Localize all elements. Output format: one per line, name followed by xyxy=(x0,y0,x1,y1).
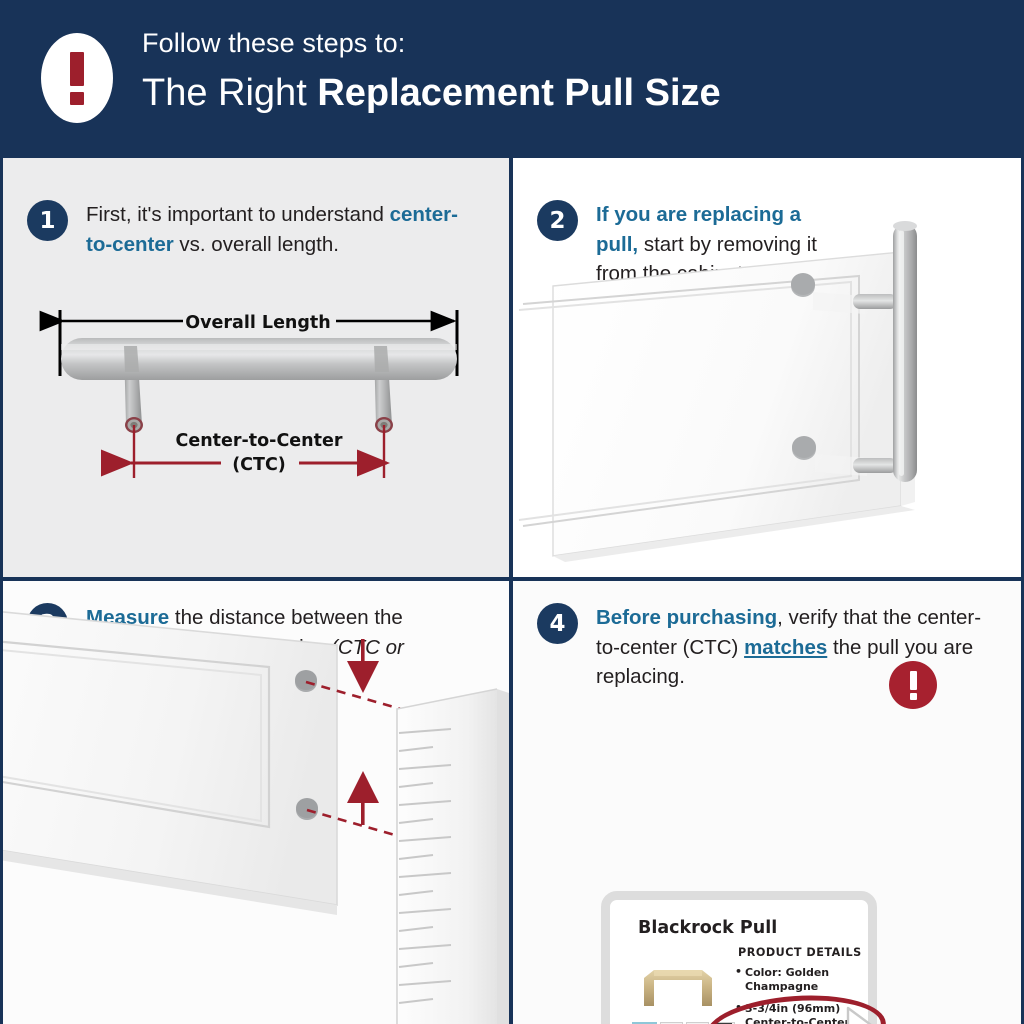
mouse-pointer-icon xyxy=(842,1004,894,1024)
step-panel-2: 2 If you are replacing a pull, start by … xyxy=(513,158,1021,577)
infographic-page: Follow these steps to: The Right Replace… xyxy=(0,0,1024,1024)
product-page-monitor: Blackrock Pull xyxy=(601,891,877,1024)
product-details-heading: PRODUCT DETAILS xyxy=(738,946,862,959)
horizontal-divider xyxy=(0,577,1024,581)
arrow-down xyxy=(347,639,379,693)
step-number-4: 4 xyxy=(537,603,578,644)
step-4-text-a: Before purchasing xyxy=(596,606,777,629)
cabinet-door-with-pull-illustration xyxy=(513,158,1021,577)
exclamation-icon xyxy=(41,33,113,123)
svg-text:Overall Length: Overall Length xyxy=(185,313,331,333)
product-title: Blackrock Pull xyxy=(638,918,777,938)
svg-text:Center-to-Center: Center-to-Center xyxy=(176,431,343,451)
product-image-blackrock-pull xyxy=(632,956,724,1016)
title-bold: Replacement Pull Size xyxy=(317,72,720,114)
title-light: The Right xyxy=(142,72,317,114)
measuring-screw-holes-illustration xyxy=(3,581,509,1024)
step-panel-4: 4 Before purchasing, verify that the cen… xyxy=(513,581,1021,1024)
step-panel-1: 1 First, it's important to understand ce… xyxy=(3,158,509,577)
step-4-matches-link[interactable]: matches xyxy=(744,636,827,659)
monitor-screen: Blackrock Pull xyxy=(601,891,877,1024)
step-panel-3: 3 Measure the distance between the cente… xyxy=(3,581,509,1024)
arrow-up xyxy=(347,771,379,825)
header-text-block: Follow these steps to: The Right Replace… xyxy=(142,26,721,120)
step-4-head: 4 Before purchasing, verify that the cen… xyxy=(537,603,1007,692)
steps-grid: 1 First, it's important to understand ce… xyxy=(0,158,1024,1024)
header-eyebrow: Follow these steps to: xyxy=(142,26,721,60)
svg-text:(CTC): (CTC) xyxy=(232,455,286,475)
exclamation-circle-icon xyxy=(889,661,937,709)
header-banner: Follow these steps to: The Right Replace… xyxy=(0,0,1024,158)
left-border xyxy=(0,158,3,1024)
detail-color: Color: Golden Champagne xyxy=(736,966,866,993)
page-title: The Right Replacement Pull Size xyxy=(142,66,721,120)
pull-dimension-diagram: Overall Length Center-to-C xyxy=(3,158,509,577)
vertical-divider xyxy=(509,158,513,1024)
